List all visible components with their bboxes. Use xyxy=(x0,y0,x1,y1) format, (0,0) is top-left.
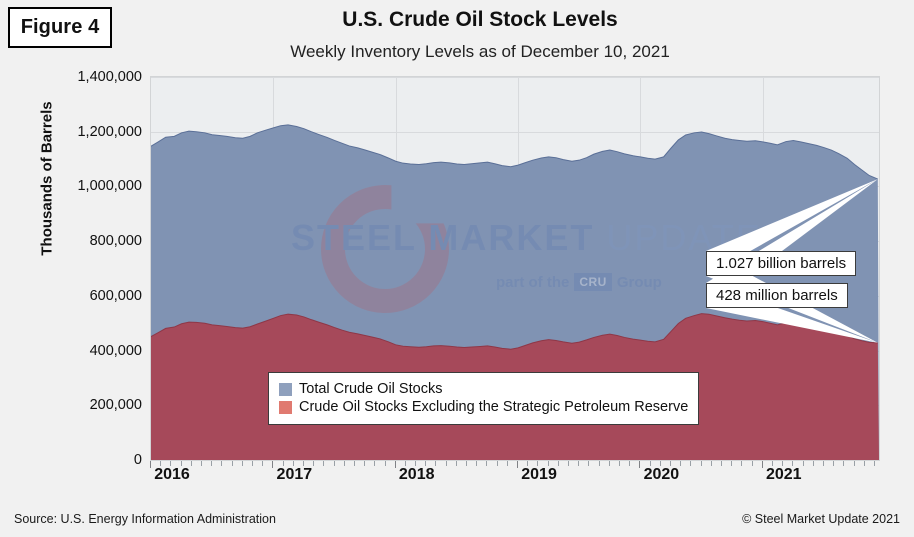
y-axis-tick-label: 1,200,000 xyxy=(46,124,142,140)
x-axis-tick-label: 2021 xyxy=(766,466,802,484)
x-axis-tick-label: 2017 xyxy=(277,466,313,484)
x-axis-tick-label: 2018 xyxy=(399,466,435,484)
y-axis-tick-label: 400,000 xyxy=(46,343,142,359)
footer-source: Source: U.S. Energy Information Administ… xyxy=(14,512,276,526)
x-axis-tick-label: 2019 xyxy=(521,466,557,484)
y-axis-tick-label: 1,000,000 xyxy=(46,178,142,194)
x-axis-tick-labels: 201620172018201920202021 xyxy=(150,466,882,492)
x-axis-tick-label: 2016 xyxy=(154,466,190,484)
legend-label-total: Total Crude Oil Stocks xyxy=(299,381,442,397)
legend-item-ex-spr: Crude Oil Stocks Excluding the Strategic… xyxy=(279,399,688,415)
chart-legend: Total Crude Oil Stocks Crude Oil Stocks … xyxy=(268,372,699,425)
callout-ex-spr: 428 million barrels xyxy=(706,283,848,308)
figure-badge: Figure 4 xyxy=(8,7,112,48)
y-axis-tick-label: 600,000 xyxy=(46,288,142,304)
y-axis-tick-labels: 0200,000400,000600,000800,0001,000,0001,… xyxy=(42,76,142,461)
figure-badge-label: Figure 4 xyxy=(21,16,100,39)
y-axis-tick-label: 800,000 xyxy=(46,233,142,249)
chart-title: U.S. Crude Oil Stock Levels xyxy=(160,8,800,32)
legend-label-ex-spr: Crude Oil Stocks Excluding the Strategic… xyxy=(299,399,688,415)
legend-swatch-ex-spr xyxy=(279,401,292,414)
x-axis-tick-label: 2020 xyxy=(644,466,680,484)
chart-page: Figure 4 U.S. Crude Oil Stock Levels Wee… xyxy=(0,0,914,537)
legend-swatch-total xyxy=(279,383,292,396)
chart-subtitle: Weekly Inventory Levels as of December 1… xyxy=(160,42,800,62)
y-axis-tick-label: 0 xyxy=(46,452,142,468)
footer-copyright: © Steel Market Update 2021 xyxy=(742,512,900,526)
y-axis-tick-label: 200,000 xyxy=(46,397,142,413)
y-axis-tick-label: 1,400,000 xyxy=(46,69,142,85)
legend-item-total: Total Crude Oil Stocks xyxy=(279,381,688,397)
callout-total-crude: 1.027 billion barrels xyxy=(706,251,856,276)
